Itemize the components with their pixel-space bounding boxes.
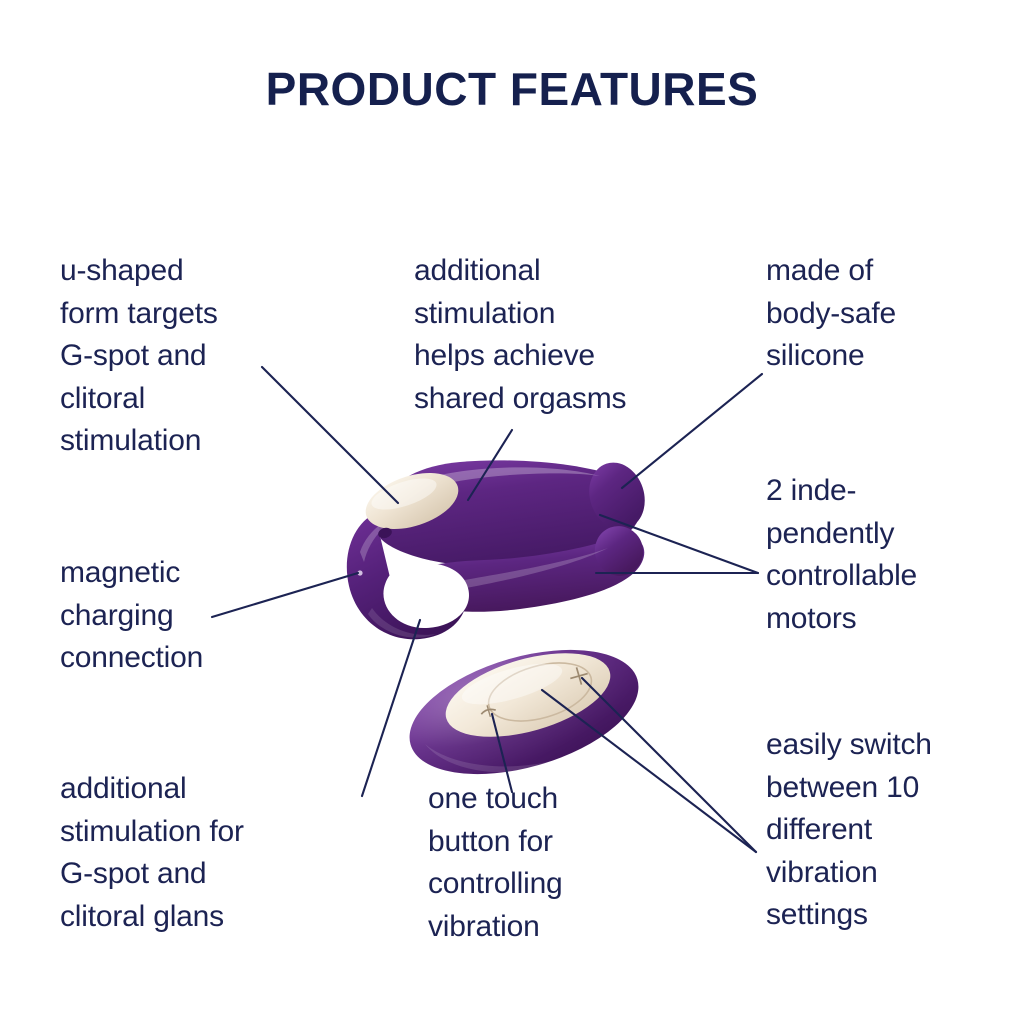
magnetic-charging-contact: [357, 570, 362, 575]
callout-additional-stimulation-shared: additional stimulation helps achieve sha…: [414, 250, 704, 420]
couples-vibrator-graphic: [347, 455, 653, 639]
vibrator-inner-gap: [383, 563, 469, 628]
callout-independent-motors: 2 inde- pendently controllable motors: [766, 470, 1016, 640]
callout-vibration-settings: easily switch between 10 different vibra…: [766, 724, 1016, 937]
callout-one-touch-button: one touch button for controlling vibrati…: [428, 778, 658, 948]
callout-additional-stimulation-gspot: additional stimulation for G-spot and cl…: [60, 768, 350, 938]
page-title: PRODUCT FEATURES: [0, 62, 1024, 116]
callout-magnetic-charging: magnetic charging connection: [60, 552, 310, 680]
callout-u-shaped-form: u-shaped form targets G-spot and clitora…: [60, 250, 320, 463]
product-features-infographic: PRODUCT FEATURES u-shaped form targets G…: [0, 0, 1024, 1024]
callout-body-safe-silicone: made of body-safe silicone: [766, 250, 1006, 378]
remote-control-graphic: [395, 627, 652, 798]
